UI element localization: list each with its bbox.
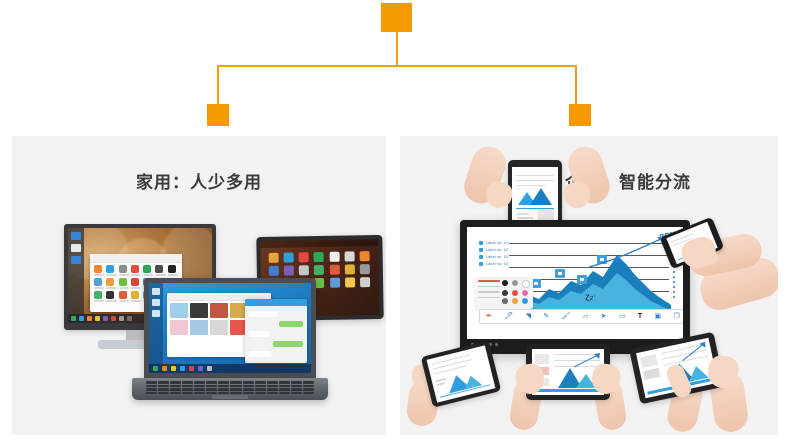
mini-chart: [512, 167, 558, 225]
connector-vertical-left: [217, 65, 219, 106]
tablet-bottom-right: [626, 332, 774, 432]
panel-home: 家用：人少多用: [12, 136, 386, 435]
laptop-dock: [149, 283, 163, 373]
chart-data-marker: [555, 269, 565, 278]
portrait-tablet-screen: [512, 167, 558, 225]
laptop-taskbar: [149, 364, 311, 373]
connector-vertical-root: [396, 30, 398, 66]
eraser-tool-icon[interactable]: ◥: [526, 313, 531, 320]
chat-title-bar: [245, 299, 307, 306]
color-palette-widget[interactable]: [475, 277, 533, 309]
home-laptop: [132, 278, 332, 408]
palette-sliders[interactable]: [478, 280, 500, 302]
laptop-lid: [144, 278, 316, 380]
laptop-keyboard: [146, 381, 314, 394]
shape-tool-icon[interactable]: ▱: [583, 313, 588, 320]
home-devices-illustration: [12, 136, 386, 435]
tablet-bottom-left: [408, 336, 518, 426]
tablet-held-portrait: [468, 142, 608, 228]
laptop-screen: [149, 283, 311, 373]
chart-legend: Label no. 01 Label no. 02 Label no. 03 L…: [479, 241, 508, 269]
legend-item: Label no. 04: [479, 262, 508, 266]
tree-node-left: [207, 104, 229, 126]
tree-node-right: [569, 104, 591, 126]
laptop-trackpad: [212, 395, 248, 399]
connector-vertical-right: [575, 65, 577, 106]
pen-tool-icon[interactable]: ✒: [486, 313, 492, 320]
paint-tool-icon[interactable]: 🖌: [562, 313, 571, 320]
chart-data-marker: [577, 275, 587, 284]
tree-node-root: [381, 3, 412, 32]
text-tool-icon[interactable]: T: [638, 313, 642, 320]
handwritten-annotation: ɀ₂·: [584, 290, 596, 301]
smartphone-held: [648, 220, 778, 340]
page-tool-icon[interactable]: ▭: [619, 313, 626, 320]
highlighter-tool-icon[interactable]: ✎: [543, 313, 549, 320]
tablet-status-bar: [260, 239, 378, 248]
legend-item: Label no. 03: [479, 255, 508, 259]
enterprise-devices-illustration: Label no. 01 Label no. 02 Label no. 03 L…: [400, 136, 778, 435]
palette-swatches[interactable]: [502, 280, 530, 304]
infographic-root: 家用：人少多用: [0, 0, 790, 448]
mini-chart: [427, 345, 496, 402]
tablet-bottom-center: [508, 334, 638, 430]
laptop-chat-window: [245, 299, 307, 363]
tablet1-screen: [427, 345, 496, 402]
monitor-dock-left: [68, 228, 84, 323]
tablet1-device: [421, 340, 502, 407]
marker-tool-icon[interactable]: 🖊: [504, 313, 513, 320]
panel-enterprise: 企业：智能分流: [400, 136, 778, 435]
legend-item: Label no. 02: [479, 248, 508, 252]
legend-item: Label no. 01: [479, 241, 508, 245]
select-tool-icon[interactable]: ➤: [601, 313, 607, 320]
launcher-search-bar: [90, 254, 182, 263]
connector-horizontal: [217, 65, 576, 67]
connector-tree: [0, 0, 790, 136]
laptop-base: [132, 378, 328, 400]
